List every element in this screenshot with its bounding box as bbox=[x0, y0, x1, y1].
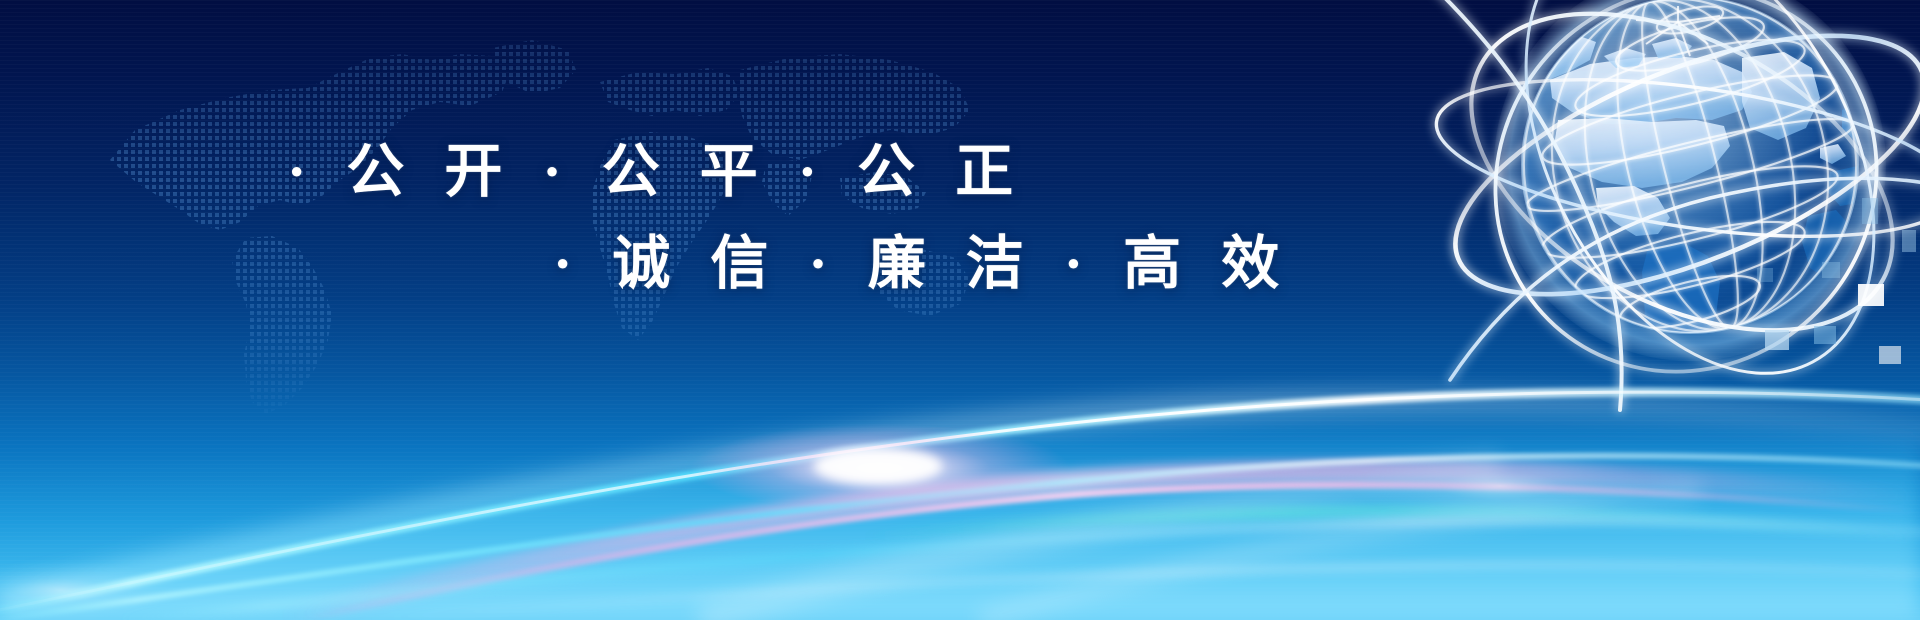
scanline-overlay bbox=[0, 0, 1920, 620]
globe-sphere bbox=[1522, 0, 1858, 333]
wave-cyan-4 bbox=[360, 565, 1920, 620]
globe-graphic bbox=[1390, 0, 1920, 420]
globe-halo bbox=[1494, 0, 1886, 361]
decor-square-7 bbox=[1822, 262, 1840, 278]
globe-svg bbox=[1390, 0, 1920, 420]
dotted-world-map-svg bbox=[40, 10, 1000, 430]
wave-pink-broad bbox=[280, 471, 1920, 620]
globe-continents bbox=[1534, 34, 1882, 366]
decor-square-6 bbox=[1902, 230, 1916, 252]
wave-cyan-3 bbox=[120, 521, 1920, 620]
decor-square-8 bbox=[1757, 268, 1773, 282]
wave-cyan-core bbox=[0, 392, 1920, 616]
decor-square-4 bbox=[1879, 346, 1901, 364]
wave-pink-thin bbox=[300, 485, 1920, 620]
decor-square-1 bbox=[1858, 284, 1884, 306]
decor-square-5 bbox=[1862, 198, 1878, 224]
slogan-line-1: · 公 开 · 公 平 · 公 正 bbox=[287, 143, 1026, 201]
wave-body bbox=[0, 408, 1920, 620]
wave-cyan-2 bbox=[0, 456, 1920, 620]
decor-square-2 bbox=[1765, 330, 1789, 350]
globe-wireframe bbox=[1488, 0, 1891, 368]
wave-sheen bbox=[700, 468, 1700, 620]
globe-orbits bbox=[1390, 0, 1920, 420]
bottom-light-wave bbox=[0, 290, 1920, 620]
slogan-block: · 公 开 · 公 平 · 公 正 · 诚 信 · 廉 洁 · 高 效 bbox=[0, 0, 1920, 620]
globe-rim bbox=[1522, 0, 1858, 333]
banner-root: · 公 开 · 公 平 · 公 正 · 诚 信 · 廉 洁 · 高 效 bbox=[0, 0, 1920, 620]
slogan-line-2: · 诚 信 · 廉 洁 · 高 效 bbox=[553, 235, 1292, 293]
light-wave-svg bbox=[0, 290, 1920, 620]
wave-haze bbox=[0, 402, 1920, 600]
wave-hotspot-right bbox=[1350, 450, 1650, 522]
wave-hotspot-core bbox=[814, 448, 942, 484]
wave-cyan-main bbox=[0, 392, 1920, 616]
wave-hotspot-left bbox=[0, 560, 180, 620]
wave-hotspot-main bbox=[690, 424, 1070, 512]
dotted-world-map bbox=[40, 10, 1000, 430]
decor-square-3 bbox=[1814, 326, 1836, 344]
wave-mint bbox=[860, 511, 1920, 540]
